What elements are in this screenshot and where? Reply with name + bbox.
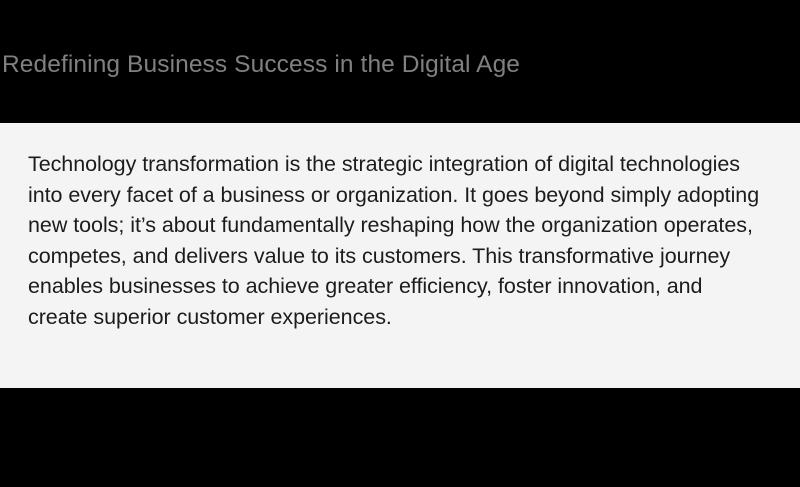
page-title: Redefining Business Success in the Digit… (2, 50, 792, 80)
presentation-slide: Redefining Business Success in the Digit… (0, 0, 800, 487)
body-paragraph: Technology transformation is the strateg… (28, 149, 760, 332)
slide-footer-band (0, 388, 800, 487)
slide-header-band: Redefining Business Success in the Digit… (0, 0, 800, 123)
content-card: Technology transformation is the strateg… (0, 123, 800, 388)
